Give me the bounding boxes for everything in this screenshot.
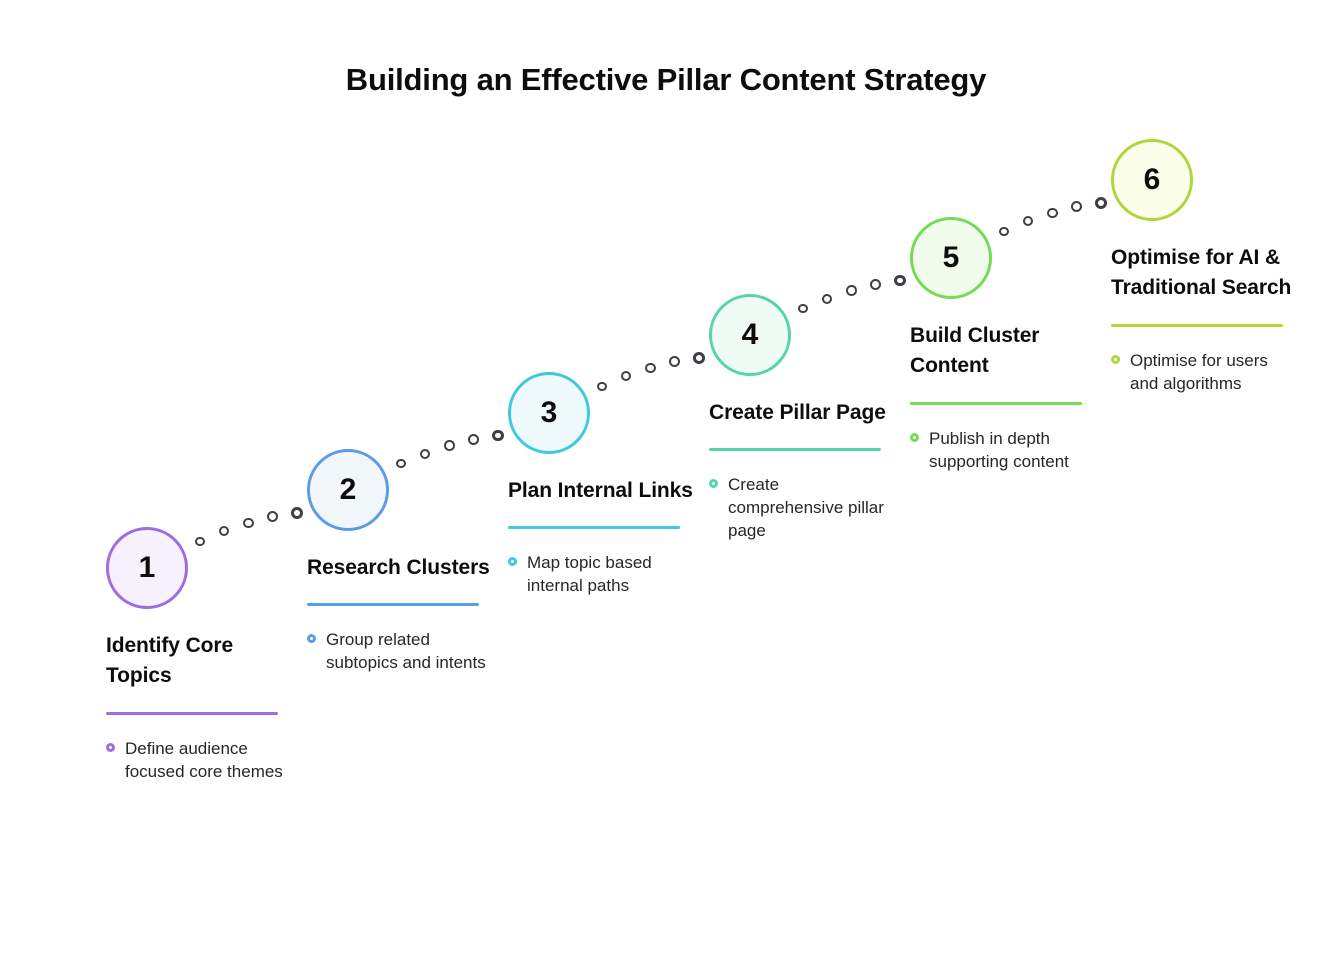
step-title-4: Create Pillar Page — [709, 398, 895, 428]
bullet-ring-icon — [106, 743, 115, 752]
step-number-badge-1: 1 — [106, 527, 188, 609]
step-1: 1Identify Core TopicsDefine audience foc… — [106, 527, 292, 783]
step-2: 2Research ClustersGroup related subtopic… — [307, 449, 493, 674]
bullet-ring-icon — [709, 479, 718, 488]
step-divider-4 — [709, 448, 881, 451]
list-item: Map topic based internal paths — [508, 551, 694, 597]
step-bullet-list-6: Optimise for users and algorithms — [1111, 349, 1297, 395]
bullet-text: Map topic based internal paths — [527, 551, 694, 597]
step-3: 3Plan Internal LinksMap topic based inte… — [508, 372, 694, 597]
connector-dot-icon — [492, 430, 504, 442]
bullet-text: Publish in depth supporting content — [929, 427, 1096, 473]
step-title-1: Identify Core Topics — [106, 631, 292, 692]
step-6: 6Optimise for AI & Traditional SearchOpt… — [1111, 139, 1297, 395]
infographic-canvas: Building an Effective Pillar Content Str… — [0, 0, 1332, 956]
bullet-ring-icon — [508, 557, 517, 566]
step-divider-3 — [508, 526, 680, 529]
connector-dot-icon — [1095, 197, 1107, 209]
connector-dot-icon — [870, 279, 881, 290]
bullet-text: Optimise for users and algorithms — [1130, 349, 1297, 395]
step-bullet-list-1: Define audience focused core themes — [106, 737, 292, 783]
step-title-5: Build Cluster Content — [910, 321, 1096, 382]
connector-dot-icon — [669, 356, 680, 367]
bullet-text: Define audience focused core themes — [125, 737, 292, 783]
list-item: Optimise for users and algorithms — [1111, 349, 1297, 395]
page-title: Building an Effective Pillar Content Str… — [0, 62, 1332, 98]
step-number-badge-2: 2 — [307, 449, 389, 531]
step-number-badge-3: 3 — [508, 372, 590, 454]
list-item: Group related subtopics and intents — [307, 628, 493, 674]
step-title-3: Plan Internal Links — [508, 476, 694, 506]
step-title-6: Optimise for AI & Traditional Search — [1111, 243, 1297, 304]
step-divider-5 — [910, 402, 1082, 405]
bullet-ring-icon — [1111, 355, 1120, 364]
connector-dot-icon — [468, 434, 479, 445]
connector-dot-icon — [291, 507, 303, 519]
step-bullet-list-4: Create comprehensive pillar page — [709, 473, 895, 542]
bullet-ring-icon — [307, 634, 316, 643]
bullet-text: Group related subtopics and intents — [326, 628, 493, 674]
bullet-text: Create comprehensive pillar page — [728, 473, 895, 542]
connector-dot-icon — [1071, 201, 1082, 212]
connector-dot-icon — [267, 511, 278, 522]
list-item: Create comprehensive pillar page — [709, 473, 895, 542]
step-divider-6 — [1111, 324, 1283, 327]
step-number-badge-5: 5 — [910, 217, 992, 299]
step-5: 5Build Cluster ContentPublish in depth s… — [910, 217, 1096, 473]
step-number-badge-6: 6 — [1111, 139, 1193, 221]
list-item: Define audience focused core themes — [106, 737, 292, 783]
step-number-badge-4: 4 — [709, 294, 791, 376]
connector-dot-icon — [693, 352, 705, 364]
step-divider-1 — [106, 712, 278, 715]
step-4: 4Create Pillar PageCreate comprehensive … — [709, 294, 895, 542]
step-title-2: Research Clusters — [307, 553, 493, 583]
list-item: Publish in depth supporting content — [910, 427, 1096, 473]
step-bullet-list-3: Map topic based internal paths — [508, 551, 694, 597]
step-bullet-list-5: Publish in depth supporting content — [910, 427, 1096, 473]
connector-dot-icon — [894, 275, 906, 287]
step-divider-2 — [307, 603, 479, 606]
bullet-ring-icon — [910, 433, 919, 442]
step-bullet-list-2: Group related subtopics and intents — [307, 628, 493, 674]
